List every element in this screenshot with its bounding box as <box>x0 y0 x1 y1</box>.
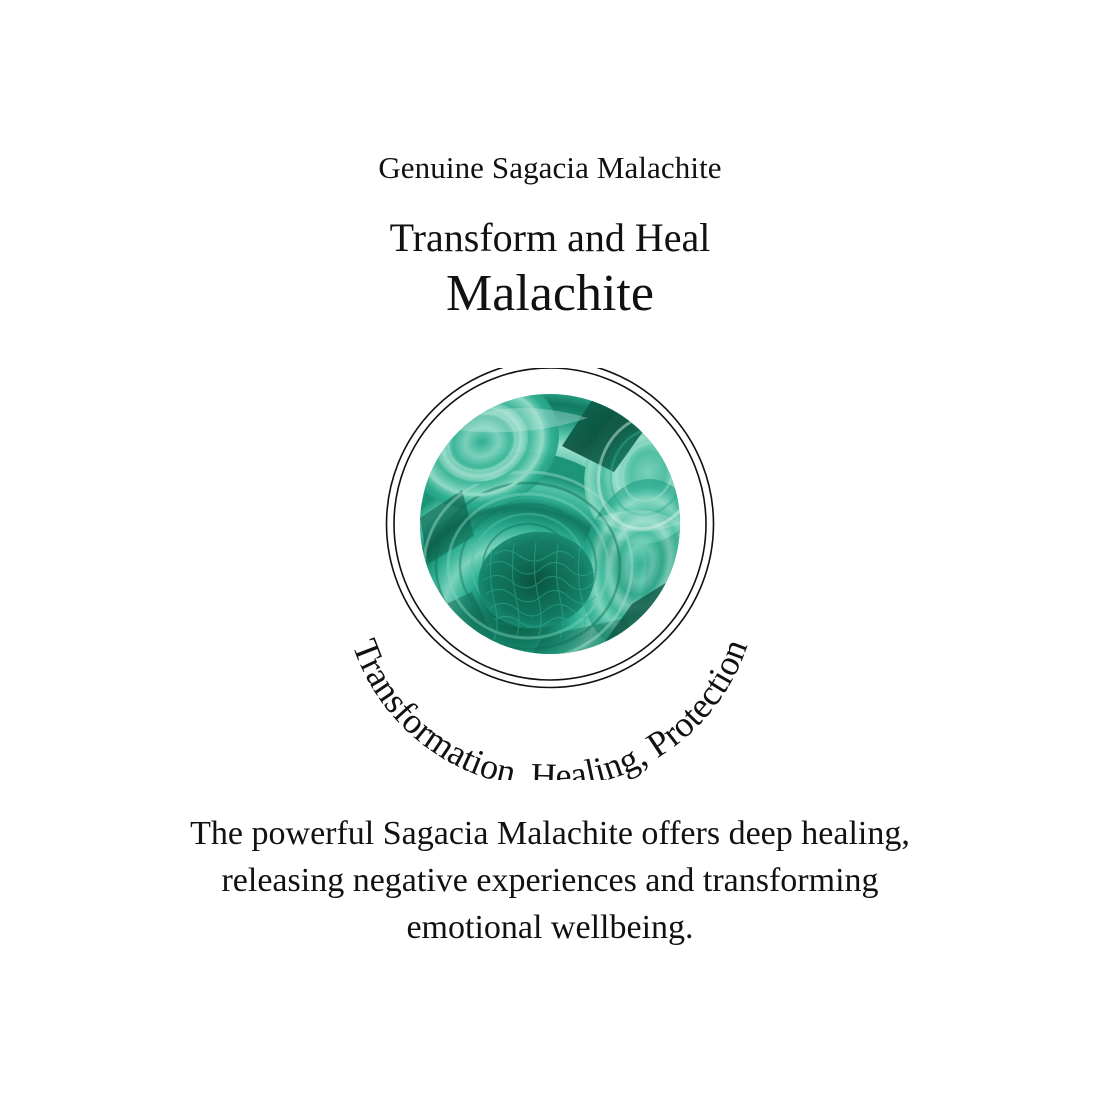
badge-svg: Transformation, Healing, Protection <box>296 368 804 780</box>
badge-circular-text: Transformation, Healing, Protection <box>345 634 755 780</box>
page-title: Malachite <box>0 264 1100 324</box>
badge-circular-text-path: Transformation, Healing, Protection <box>345 634 755 780</box>
page-subtitle: Transform and Heal <box>0 210 1100 266</box>
description-line-1: The powerful Sagacia Malachite offers de… <box>70 810 1030 857</box>
eyebrow-text: Genuine Sagacia Malachite <box>0 148 1100 188</box>
description-line-2: releasing negative experiences and trans… <box>70 857 1030 904</box>
product-graphic-page: Genuine Sagacia Malachite Transform and … <box>0 0 1100 1100</box>
description-paragraph: The powerful Sagacia Malachite offers de… <box>70 810 1030 951</box>
description-line-3: emotional wellbeing. <box>70 904 1030 951</box>
heading-group: Genuine Sagacia Malachite Transform and … <box>0 148 1100 324</box>
malachite-badge: Transformation, Healing, Protection <box>296 368 804 780</box>
